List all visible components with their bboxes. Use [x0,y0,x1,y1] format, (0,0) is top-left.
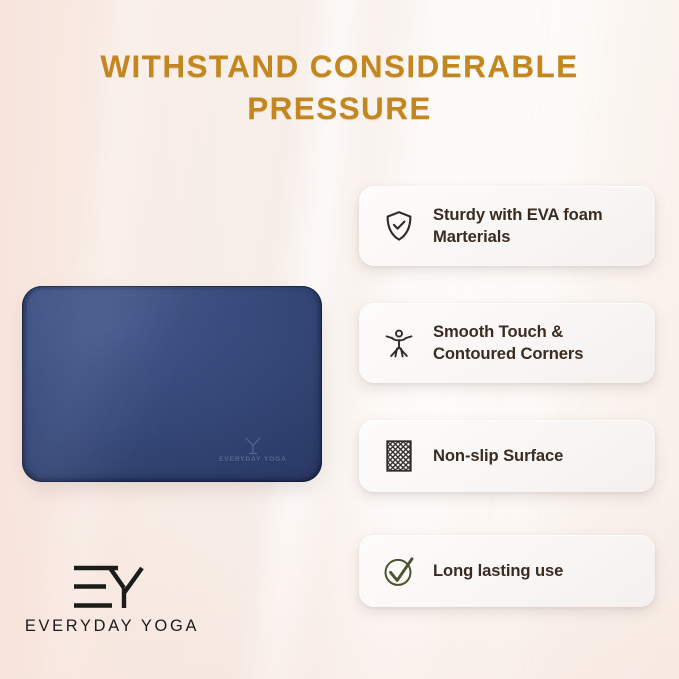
brand-logo: EVERYDAY YOGA [22,562,202,636]
feature-card-non-slip-surface[interactable]: Non-slip Surface [359,420,655,492]
shield-check-icon [382,209,416,243]
ey-monogram-icon [62,562,162,614]
yoga-block-embossed-logo: EVERYDAY YOGA [202,436,304,463]
y-figure-mark-icon [242,436,264,455]
body-figure-icon [382,326,416,360]
feature-card-long-lasting-use[interactable]: Long lasting use [359,535,655,607]
feature-label: Smooth Touch & Contoured Corners [433,321,639,364]
infographic-canvas: WITHSTAND CONSIDERABLE PRESSURE EVERYDAY… [0,0,679,679]
yoga-block: EVERYDAY YOGA [22,286,322,482]
feature-label: Sturdy with EVA foam Marterials [433,204,639,247]
brand-name: EVERYDAY YOGA [22,617,202,636]
feature-card-sturdy-eva-foam[interactable]: Sturdy with EVA foam Marterials [359,186,655,266]
check-circle-icon [382,554,416,588]
texture-hatch-icon [382,439,416,473]
feature-card-smooth-touch[interactable]: Smooth Touch & Contoured Corners [359,303,655,383]
feature-card-list: Sturdy with EVA foam Marterials [359,186,655,607]
page-title: WITHSTAND CONSIDERABLE PRESSURE [50,46,629,130]
feature-label: Non-slip Surface [433,445,563,467]
product-image: EVERYDAY YOGA [22,286,322,482]
feature-label: Long lasting use [433,560,563,582]
yoga-block-emboss-text: EVERYDAY YOGA [202,456,304,463]
